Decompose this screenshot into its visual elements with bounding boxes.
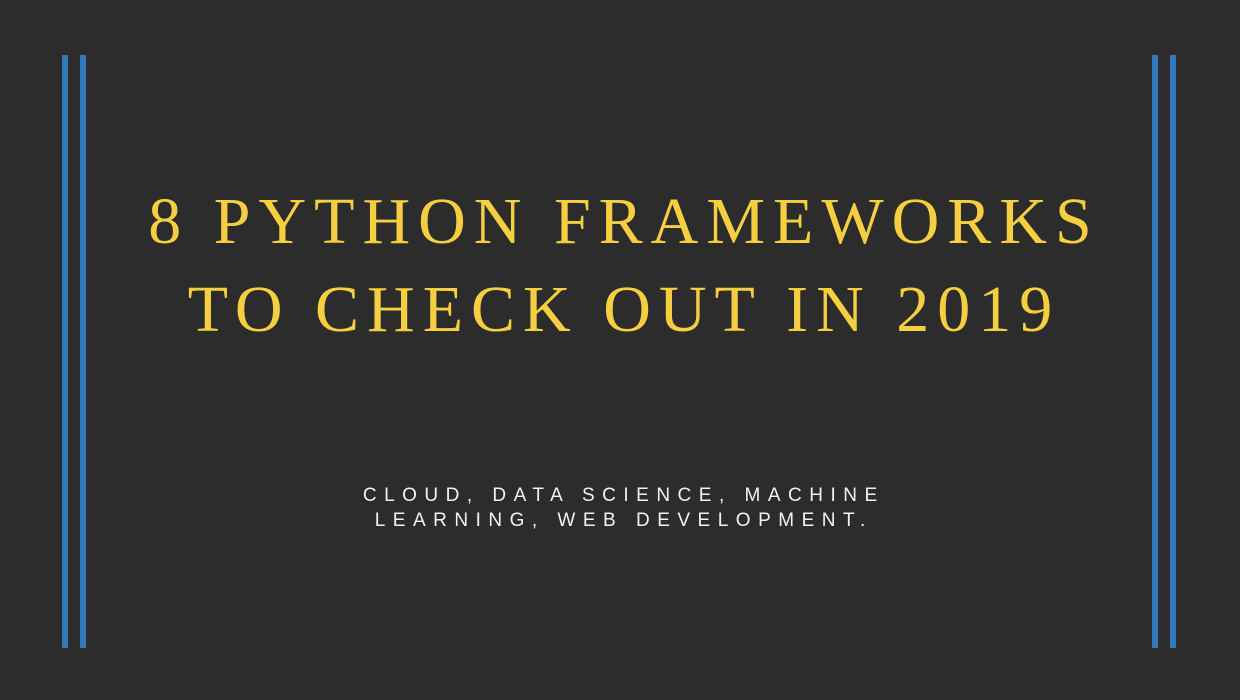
slide-subtitle-line-2: LEARNING, WEB DEVELOPMENT. xyxy=(200,508,1040,533)
slide-content: 8 PYTHON FRAMEWORKS TO CHECK OUT IN 2019… xyxy=(110,0,1130,700)
vertical-rule-left-inner xyxy=(80,55,86,648)
slide-subtitle: CLOUD, DATA SCIENCE, MACHINE LEARNING, W… xyxy=(200,483,1040,533)
title-slide: 8 PYTHON FRAMEWORKS TO CHECK OUT IN 2019… xyxy=(0,0,1240,700)
slide-title-line-2: TO CHECK OUT IN 2019 xyxy=(110,266,1130,354)
vertical-rule-left-outer xyxy=(62,55,68,648)
vertical-rule-right-inner xyxy=(1152,55,1158,648)
slide-title-line-1: 8 PYTHON FRAMEWORKS xyxy=(110,178,1130,266)
slide-subtitle-line-1: CLOUD, DATA SCIENCE, MACHINE xyxy=(200,483,1040,508)
slide-title: 8 PYTHON FRAMEWORKS TO CHECK OUT IN 2019 xyxy=(110,178,1130,354)
vertical-rule-right-outer xyxy=(1170,55,1176,648)
